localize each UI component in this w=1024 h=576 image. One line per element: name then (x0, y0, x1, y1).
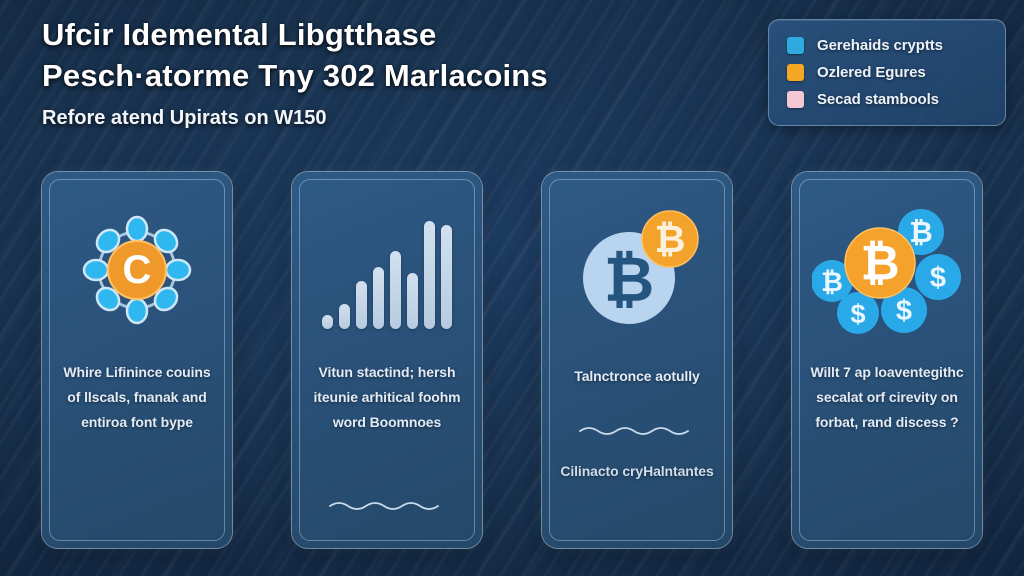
legend-swatch-orange (787, 64, 804, 81)
card-2[interactable]: Vitun stactind; hersh iteunie arhitical … (292, 172, 482, 548)
card-2-text: Vitun stactind; hersh iteunie arhitical … (306, 360, 468, 435)
card-row: C Whire Lifinince couins of llscals, fna… (42, 172, 982, 548)
card-2-icon-slot (292, 200, 482, 340)
center-coin: ₿ (845, 228, 915, 298)
svg-text:$: $ (896, 295, 912, 327)
bar-3 (356, 281, 367, 329)
legend-swatch-pink (787, 91, 804, 108)
card-4-text: Willt 7 ap loaventegithc secalat orf cir… (806, 360, 968, 435)
bar-5 (390, 251, 401, 329)
card-1-icon-slot: C (42, 200, 232, 340)
infographic-canvas: Ufcir Idemental Libgtthase Pesch·atorme … (0, 0, 1024, 576)
card-3-squiggle-underline (578, 425, 696, 435)
bar-2 (339, 304, 350, 329)
header-block: Ufcir Idemental Libgtthase Pesch·atorme … (42, 14, 702, 131)
legend-panel: Gerehaids cryptts Ozlered Egures Secad s… (768, 19, 1006, 126)
network-coin-svg: C (77, 210, 197, 330)
card-3-text: Talnctronce aotully (556, 364, 718, 389)
card-2-squiggle-underline (328, 500, 446, 510)
svg-text:₿: ₿ (860, 238, 899, 291)
bar-7 (424, 221, 435, 329)
legend-item-2[interactable]: Secad stambools (787, 86, 991, 113)
legend-label-1: Ozlered Egures (817, 64, 926, 81)
svg-text:$: $ (850, 299, 865, 329)
legend-label-2: Secad stambools (817, 91, 939, 108)
legend-item-1[interactable]: Ozlered Egures (787, 59, 991, 86)
svg-text:₿: ₿ (909, 217, 933, 249)
bitcoin-symbol-small: ₿ (655, 219, 686, 261)
bar-6 (407, 273, 418, 329)
bar-chart-icon (322, 211, 452, 329)
card-3-icon-slot: ₿ ₿ (542, 200, 732, 340)
legend-swatch-blue (787, 37, 804, 54)
legend-item-0[interactable]: Gerehaids cryptts (787, 32, 991, 59)
page-subtitle: Refore atend Upirats on W150 (42, 105, 702, 131)
bar-4 (373, 267, 384, 329)
network-coin-letter: C (123, 248, 152, 292)
bitcoin-symbol-large: ₿ (604, 246, 655, 315)
satellite-coin-right: $ (915, 254, 961, 300)
page-title-line-1: Ufcir Idemental Libgtthase (42, 14, 702, 55)
svg-text:₿: ₿ (821, 267, 843, 297)
bitcoin-circle-icon: ₿ ₿ (573, 206, 701, 334)
card-1-text: Whire Lifinince couins of llscals, fnana… (56, 360, 218, 435)
card-4[interactable]: ₿ $ $ $ (792, 172, 982, 548)
card-4-icon-slot: ₿ $ $ $ (792, 200, 982, 340)
bar-1 (322, 315, 333, 329)
card-3[interactable]: ₿ ₿ Talnctronce aotully Cilinacto cryHal… (542, 172, 732, 548)
network-coin-icon: C (77, 210, 197, 330)
bar-8 (441, 225, 452, 329)
coin-cluster-icon: ₿ $ $ $ (812, 205, 962, 335)
legend-label-0: Gerehaids cryptts (817, 37, 943, 54)
coin-cluster-svg: ₿ $ $ $ (812, 205, 962, 335)
svg-text:$: $ (930, 262, 946, 294)
bitcoin-circle-svg: ₿ ₿ (573, 206, 701, 334)
page-title-line-2: Pesch·atorme Tny 302 Marlacoins (42, 55, 702, 96)
card-3-text-secondary: Cilinacto cryHalntantes (556, 459, 718, 484)
card-1[interactable]: C Whire Lifinince couins of llscals, fna… (42, 172, 232, 548)
